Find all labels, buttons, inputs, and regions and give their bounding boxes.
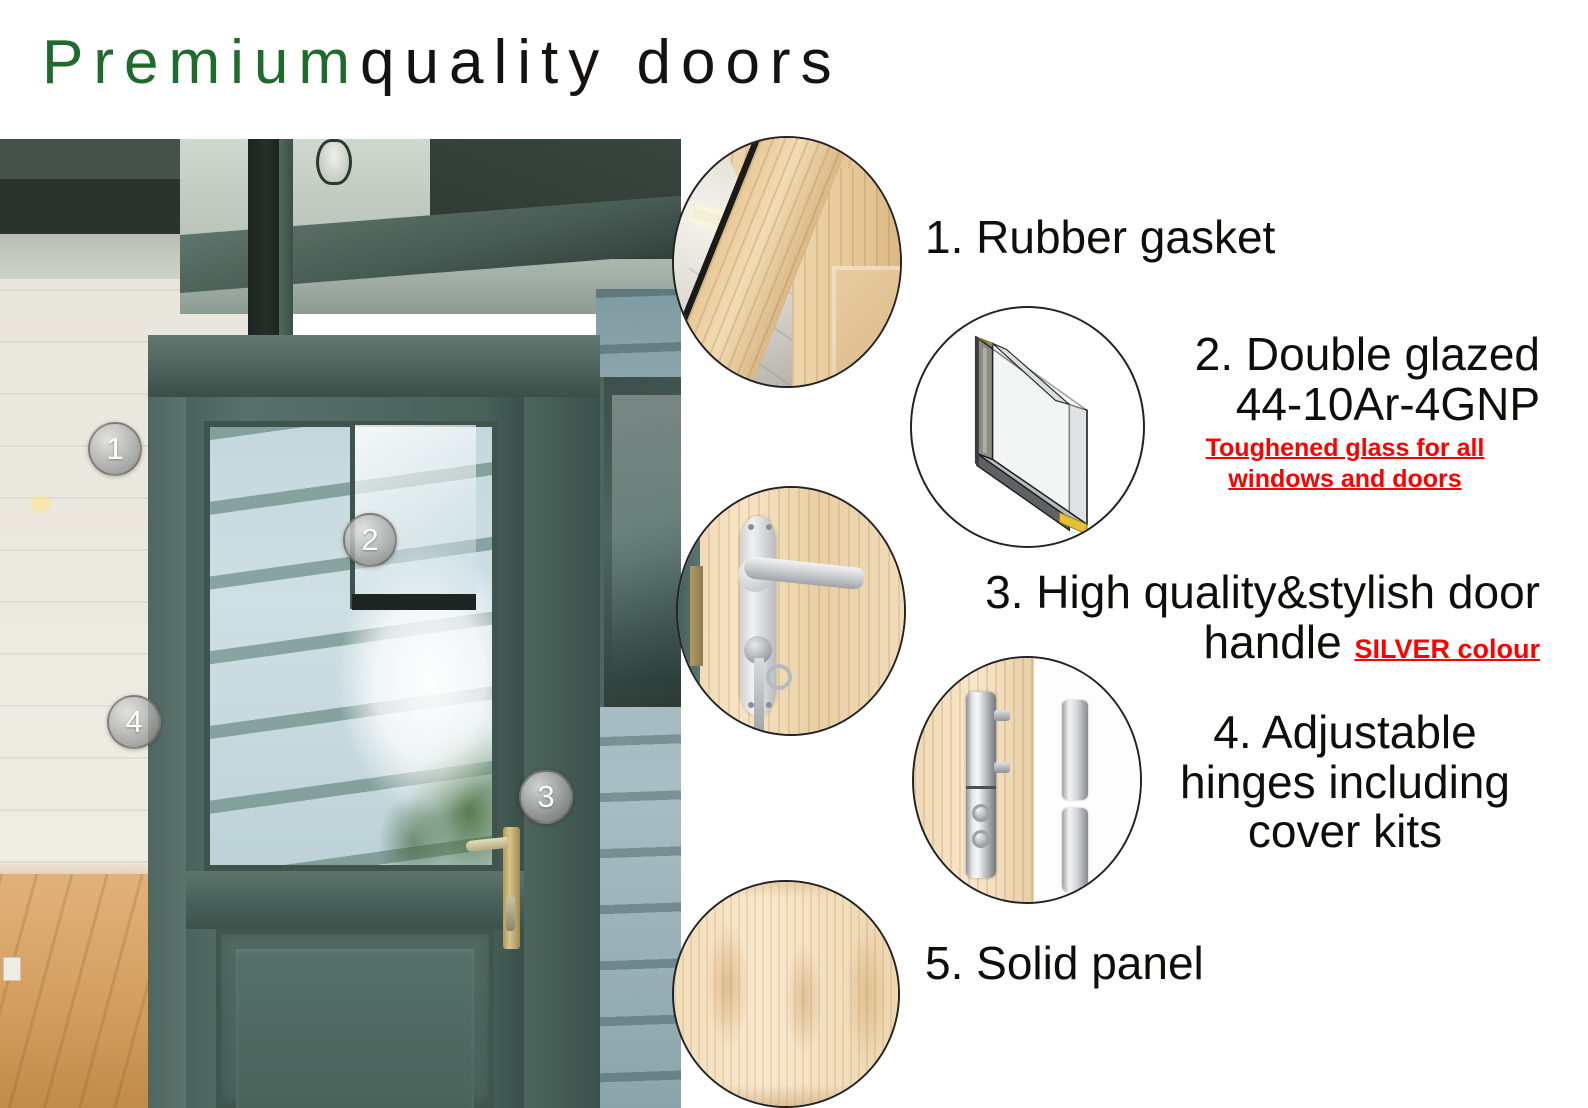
pine-moulding (832, 266, 902, 388)
backplate-screw-bottom-right (766, 702, 772, 708)
solid-panel-detail-photo (672, 880, 900, 1108)
hinge-cover-kit-upper (1062, 700, 1088, 800)
feature-label-5: 5. Solid panel (925, 939, 1204, 989)
feature-label-2-line1: 2. Double glazed (1150, 330, 1540, 380)
hinge-grub-screw-lower (972, 830, 990, 848)
hinge-adjust-pin-upper (994, 710, 1010, 721)
adjustable-hinge-detail-photo (912, 656, 1142, 904)
rubber-gasket-detail-photo (672, 136, 902, 388)
double-glazed-unit-svg (912, 308, 1143, 546)
callout-badge-1: 1 (88, 422, 142, 476)
glass-reflection-dark-band (352, 594, 476, 610)
callout-badge-4: 4 (107, 695, 161, 749)
page-title-highlight: Premium (42, 28, 360, 97)
feature-label-2-line2: 44-10Ar-4GNP (1150, 380, 1540, 430)
infographic-page: Premiumquality doors 1 2 3 (0, 0, 1588, 1108)
page-title-rest: quality doors (360, 28, 842, 97)
exterior-wall-light-icon (316, 139, 352, 185)
door-head-rail (148, 335, 600, 397)
feature-label-4-line1: 4. Adjustable (1150, 708, 1540, 758)
feature-label-3: 3. High quality&stylish door handle SILV… (920, 568, 1540, 667)
pine-door-surface (678, 488, 904, 734)
feature-label-2: 2. Double glazed 44-10Ar-4GNP Toughened … (1150, 330, 1540, 494)
green-door-photo: 1 2 3 4 5 (0, 139, 681, 1108)
double-glazing-diagram (910, 306, 1145, 548)
solid-pine-panel-surface (674, 882, 898, 1106)
feature-label-4-line3: cover kits (1150, 807, 1540, 857)
hinge-grub-screw-upper (972, 804, 990, 822)
key-icon (754, 658, 764, 736)
wall-socket (3, 957, 21, 981)
feature-label-3-line2-row: handle SILVER colour (920, 618, 1540, 668)
white-studio-background (1034, 658, 1142, 902)
exterior-window-glass (612, 395, 681, 687)
feature-label-1: 1. Rubber gasket (925, 213, 1275, 263)
feature-label-3-line1: 3. High quality&stylish door (920, 568, 1540, 618)
door-solid-panel-inner (236, 949, 474, 1108)
callout-badge-3: 3 (519, 770, 573, 824)
door-lock-key (506, 897, 515, 931)
feature-label-4: 4. Adjustable hinges including cover kit… (1150, 708, 1540, 857)
feature-label-2-note: Toughened glass for all windows and door… (1150, 433, 1540, 494)
page-title: Premiumquality doors (42, 32, 842, 94)
door-handle-detail-photo (676, 486, 906, 736)
callout-badge-2: 2 (343, 513, 397, 567)
feature-label-3-note: SILVER colour (1354, 634, 1540, 664)
panel-bottom-edge (674, 1084, 898, 1106)
key-ring-icon (766, 664, 792, 690)
door-mid-rail (186, 871, 524, 929)
strike-keep-plate (690, 566, 703, 666)
hinge-cover-kit-lower (1062, 808, 1088, 892)
backplate-screw-top-right (766, 524, 772, 530)
feature-label-3-line2: handle (1204, 616, 1342, 668)
panel-top-edge (674, 882, 898, 898)
hinge-seam (966, 786, 996, 789)
feature-label-4-line2: hinges including (1150, 758, 1540, 808)
hinge-adjust-pin-lower (994, 762, 1010, 773)
backplate-screw-top-left (748, 524, 754, 530)
ceiling-light-glow (28, 494, 54, 514)
adjustable-hinge-body (966, 692, 996, 878)
